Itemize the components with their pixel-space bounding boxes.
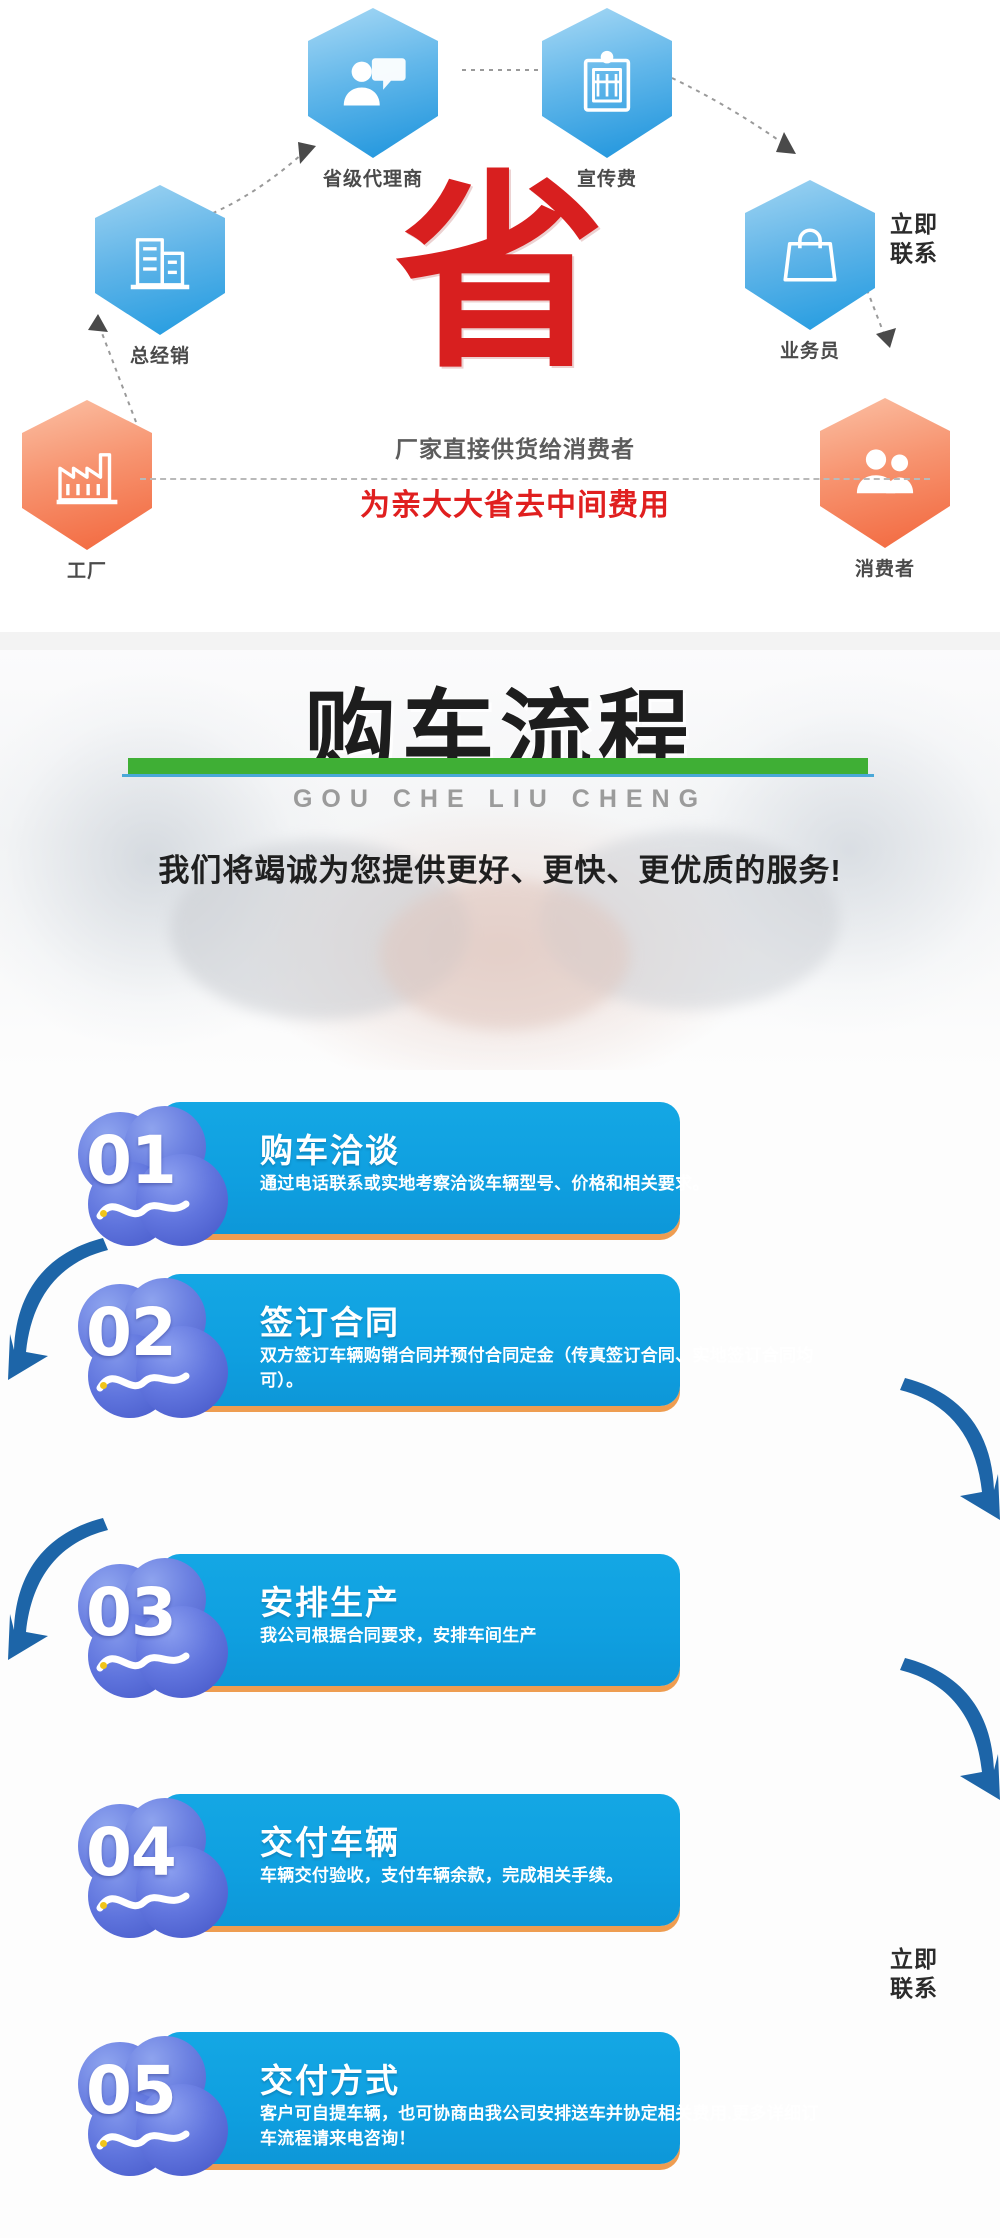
step-card[interactable]: 交付方式 客户可自提车辆，也可协商由我公司安排送车并协定相关费用.更多详细订车流… <box>160 2032 680 2164</box>
node-salesman: 业务员 <box>745 180 875 363</box>
agent-hex-shape <box>308 8 438 158</box>
squiggle-icon <box>96 1366 192 1400</box>
contact-tag-line2: 联系 <box>890 239 938 268</box>
section-divider <box>0 632 1000 650</box>
flow-section-pinyin: GOU CHE LIU CHENG <box>0 785 1000 814</box>
salesman-hex-shape <box>745 180 875 330</box>
node-label-factory: 工厂 <box>22 556 152 583</box>
step-description: 我公司根据合同要求，安排车间生产 <box>260 1624 820 1649</box>
step-description: 客户可自提车辆，也可协商由我公司安排送车并协定相关费用.更多详细订车流程请来电咨… <box>260 2102 820 2151</box>
node-label-consumer: 消费者 <box>820 554 950 581</box>
node-consumer: 消费者 <box>820 398 950 581</box>
flow-step-row[interactable]: 交付方式 客户可自提车辆，也可协商由我公司安排送车并协定相关费用.更多详细订车流… <box>0 2028 1000 2178</box>
step-title: 签订合同 <box>260 1296 400 1344</box>
node-factory: 工厂 <box>22 400 152 583</box>
subtitle-red: 为亲大大省去中间费用 <box>265 480 765 524</box>
office-building-icon <box>124 224 196 296</box>
step-title: 安排生产 <box>260 1576 400 1624</box>
squiggle-icon <box>96 1194 192 1228</box>
step-card[interactable]: 安排生产 我公司根据合同要求，安排车间生产 <box>160 1554 680 1686</box>
step-title: 交付车辆 <box>260 1816 400 1864</box>
step-accent-dot <box>100 1382 107 1389</box>
step-description: 车辆交付验收，支付车辆余款，完成相关手续。 <box>260 1864 820 1889</box>
squiggle-icon <box>96 1646 192 1680</box>
squiggle-icon <box>96 2124 192 2158</box>
consumer-hex-shape <box>820 398 950 548</box>
arrow-promofee-to-salesman <box>668 62 798 172</box>
person-chat-icon <box>337 47 409 119</box>
step-card[interactable]: 签订合同 双方签订车辆购销合同并预付合同定金（传真签订合同、实地签订合同均可）。 <box>160 1274 680 1406</box>
step-number: 03 <box>86 1580 216 1646</box>
purchase-flow-section: 购车流程 GOU CHE LIU CHENG 我们将竭诚为您提供更好、更快、更优… <box>0 650 1000 2238</box>
step-title: 购车洽谈 <box>260 1124 400 1172</box>
contact-tag-line2: 联系 <box>890 1974 938 2003</box>
flow-step-row[interactable]: 交付车辆 车辆交付验收，支付车辆余款，完成相关手续。 04 <box>0 1790 1000 1940</box>
factory-hex-shape <box>22 400 152 550</box>
step-accent-dot <box>100 1210 107 1217</box>
title-underline-bar <box>128 758 868 775</box>
shopping-bag-icon <box>774 219 846 291</box>
distributor-hex-shape <box>95 185 225 335</box>
step-accent-dot <box>100 1662 107 1669</box>
step-number: 05 <box>86 2058 216 2124</box>
contact-tag-line1: 立即 <box>890 1945 938 1974</box>
clipboard-approve-icon <box>571 47 643 119</box>
step-card[interactable]: 购车洽谈 通过电话联系或实地考察洽谈车辆型号、价格和相关要求。 <box>160 1102 680 1234</box>
step-number: 01 <box>86 1128 216 1194</box>
distribution-diagram-section: 工厂 总经销 <box>0 0 1000 650</box>
step-accent-dot <box>100 2140 107 2147</box>
step-description: 双方签订车辆购销合同并预付合同定金（传真签订合同、实地签订合同均可）。 <box>260 1344 820 1393</box>
step-card[interactable]: 交付车辆 车辆交付验收，支付车辆余款，完成相关手续。 <box>160 1794 680 1926</box>
flow-step-row[interactable]: 购车洽谈 通过电话联系或实地考察洽谈车辆型号、价格和相关要求。 01 <box>0 1098 1000 1248</box>
factory-icon <box>51 439 123 511</box>
step-description: 通过电话联系或实地考察洽谈车辆型号、价格和相关要求。 <box>260 1172 820 1197</box>
contact-tag-top[interactable]: 立即 联系 <box>890 210 938 268</box>
people-icon <box>849 437 921 509</box>
flow-section-slogan: 我们将竭诚为您提供更好、更快、更优质的服务! <box>0 845 1000 890</box>
step-number: 04 <box>86 1820 216 1886</box>
contact-tag-bottom[interactable]: 立即 联系 <box>890 1945 938 2003</box>
promofee-hex-shape <box>542 8 672 158</box>
subtitle-gray: 厂家直接供货给消费者 <box>305 430 725 464</box>
flow-step-row[interactable]: 签订合同 双方签订车辆购销合同并预付合同定金（传真签订合同、实地签订合同均可）。… <box>0 1270 1000 1420</box>
big-save-character: 省 <box>395 170 605 380</box>
step-accent-dot <box>100 1902 107 1909</box>
squiggle-icon <box>96 1886 192 1920</box>
contact-tag-line1: 立即 <box>890 210 938 239</box>
step-number: 02 <box>86 1300 216 1366</box>
step-title: 交付方式 <box>260 2054 400 2102</box>
node-label-salesman: 业务员 <box>745 336 875 363</box>
node-distributor: 总经销 <box>95 185 225 368</box>
flow-step-row[interactable]: 安排生产 我公司根据合同要求，安排车间生产 03 <box>0 1550 1000 1700</box>
node-label-distributor: 总经销 <box>95 341 225 368</box>
